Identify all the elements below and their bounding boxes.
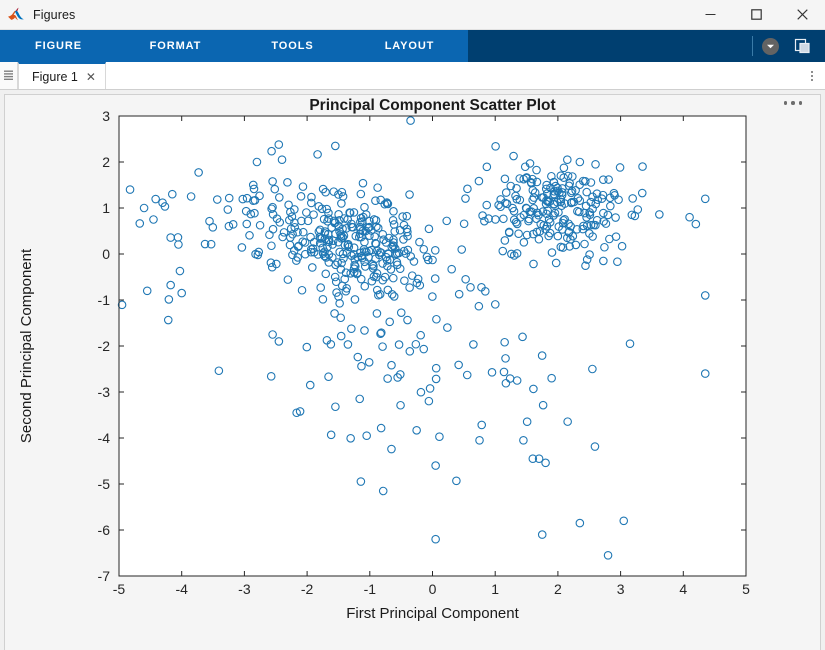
ribbon-tab-format-label: FORMAT <box>150 40 202 52</box>
x-tick-label: -5 <box>113 581 126 597</box>
y-tick-label: 2 <box>102 154 110 170</box>
y-tick-label: -3 <box>98 384 111 400</box>
axes-more-options-icon[interactable] <box>784 101 803 105</box>
x-tick-label: 2 <box>554 581 562 597</box>
plot-background <box>119 116 746 576</box>
y-tick-label: -1 <box>98 292 111 308</box>
ribbon-tab-tools[interactable]: TOOLS <box>234 30 351 62</box>
y-tick-label: -4 <box>98 430 111 446</box>
ribbon-tab-tools-label: TOOLS <box>271 40 313 52</box>
ribbon-right-controls <box>750 30 825 62</box>
figure-panel[interactable]: -5-4-3-2-10123453210-1-2-3-4-5-6-7Princi… <box>4 94 821 650</box>
y-tick-label: -7 <box>98 568 111 584</box>
ribbon-tab-layout-label: LAYOUT <box>385 40 435 52</box>
close-button[interactable] <box>779 0 825 29</box>
dot <box>784 101 788 105</box>
maximize-button[interactable] <box>733 0 779 29</box>
y-tick-label: 3 <box>102 108 110 124</box>
x-tick-label: 0 <box>429 581 437 597</box>
title-bar: Figures <box>0 0 825 30</box>
dot <box>791 101 795 105</box>
x-tick-label: 3 <box>617 581 625 597</box>
x-tick-label: 5 <box>742 581 750 597</box>
document-tab-strip: Figure 1 ✕ <box>0 62 825 90</box>
y-tick-label: 1 <box>102 200 110 216</box>
x-tick-label: 1 <box>491 581 499 597</box>
ribbon-tab-format[interactable]: FORMAT <box>117 30 234 62</box>
chevron-down-circle-icon[interactable] <box>762 38 779 55</box>
figure-canvas-area: -5-4-3-2-10123453210-1-2-3-4-5-6-7Princi… <box>0 90 825 650</box>
chart-title: Principal Component Scatter Plot <box>309 97 555 114</box>
minimize-button[interactable] <box>687 0 733 29</box>
ribbon-bar: FIGURE FORMAT TOOLS LAYOUT <box>0 30 825 62</box>
x-tick-label: -2 <box>301 581 314 597</box>
dot <box>799 101 803 105</box>
kebab-dot <box>811 75 813 77</box>
ribbon-tab-list: FIGURE FORMAT TOOLS LAYOUT <box>0 30 468 62</box>
ribbon-empty-area <box>468 30 750 62</box>
window-title: Figures <box>33 8 75 22</box>
kebab-dot <box>811 71 813 73</box>
document-tab-label: Figure 1 <box>32 70 78 84</box>
x-tick-label: -3 <box>238 581 251 597</box>
ribbon-tab-figure[interactable]: FIGURE <box>0 30 117 62</box>
x-tick-label: 4 <box>679 581 687 597</box>
document-tab-figure-1[interactable]: Figure 1 ✕ <box>18 62 106 89</box>
ribbon-tab-layout[interactable]: LAYOUT <box>351 30 468 62</box>
y-tick-label: -5 <box>98 476 111 492</box>
matlab-membrane-icon <box>7 6 25 24</box>
y-tick-label: -6 <box>98 522 111 538</box>
figures-window: Figures FIGURE FORMAT TOOLS LAYOUT <box>0 0 825 650</box>
kebab-dot <box>811 79 813 81</box>
y-axis-label: Second Principal Component <box>18 248 35 443</box>
scatter-plot[interactable]: -5-4-3-2-10123453210-1-2-3-4-5-6-7Princi… <box>5 95 820 650</box>
x-tick-label: -4 <box>175 581 188 597</box>
document-tab-strip-fill <box>106 62 799 89</box>
ribbon-divider <box>752 36 753 56</box>
x-tick-label: -1 <box>364 581 377 597</box>
ribbon-tab-figure-label: FIGURE <box>35 40 82 52</box>
close-icon[interactable]: ✕ <box>86 71 96 83</box>
x-axis-label: First Principal Component <box>346 605 519 622</box>
documents-icon[interactable] <box>793 37 813 55</box>
y-tick-label: 0 <box>102 246 110 262</box>
y-tick-label: -2 <box>98 338 111 354</box>
kebab-menu-icon[interactable] <box>799 62 825 89</box>
document-list-icon[interactable] <box>0 62 18 89</box>
